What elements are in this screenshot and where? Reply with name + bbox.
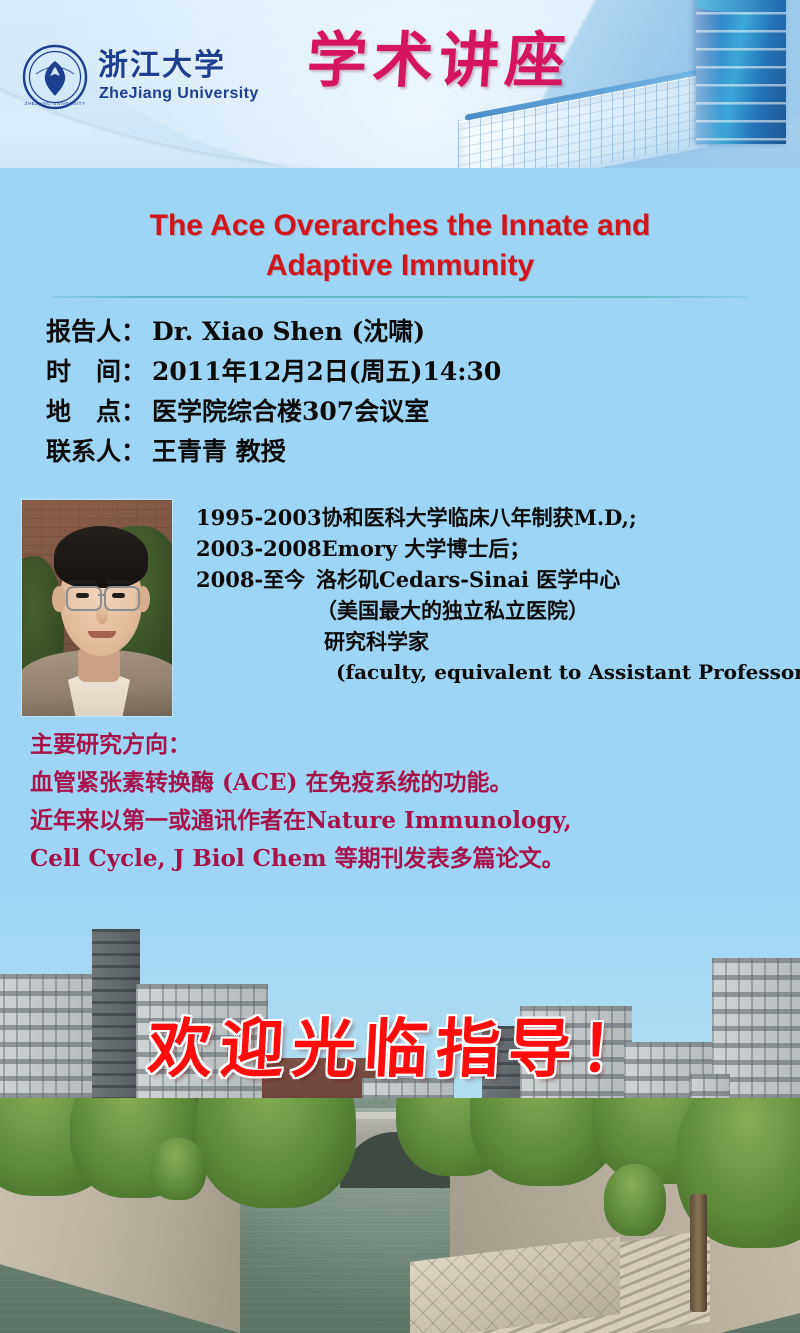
speaker-portrait-photo xyxy=(22,500,172,716)
portrait-nose xyxy=(96,604,108,624)
detail-value: 2011年12月2日(周五)14:30 xyxy=(152,352,501,392)
glass-tower-cap xyxy=(696,0,786,12)
cv-row: 1995-2003 协和医科大学临床八年制获M.D,; xyxy=(196,502,796,533)
shrub xyxy=(604,1164,666,1236)
cv-row: 2008-至今 洛杉矶Cedars-Sinai 医学中心 xyxy=(196,564,796,595)
portrait-eye-right xyxy=(112,593,125,598)
seminar-poster: ZHEJIANG UNIVERSITY 浙江大学 ZheJiang Univer… xyxy=(0,0,800,1333)
portrait-eye-left xyxy=(76,593,89,598)
talk-title-line-2: Adaptive Immunity xyxy=(60,246,740,286)
glass-tower-illustration xyxy=(696,0,786,144)
campus-river-scene xyxy=(0,1098,800,1333)
cv-continuation-faculty: (faculty, equivalent to Assistant Profes… xyxy=(196,657,796,688)
cv-row: 2003-2008 Emory 大学博士后； xyxy=(196,533,796,564)
detail-label: 联系人： xyxy=(46,432,146,472)
research-line-3: 近年来以第一或通讯作者在Nature Immunology, xyxy=(30,802,730,840)
university-logo: ZHEJIANG UNIVERSITY 浙江大学 ZheJiang Univer… xyxy=(22,44,259,110)
title-divider xyxy=(52,296,748,298)
speaker-cv: 1995-2003 协和医科大学临床八年制获M.D,; 2003-2008 Em… xyxy=(196,502,796,688)
portrait-eyebrow-left xyxy=(68,580,96,584)
cv-text: Emory 大学博士后； xyxy=(322,533,796,564)
university-name-en: ZheJiang University xyxy=(99,85,259,103)
detail-label: 报告人： xyxy=(46,312,146,352)
research-heading: 主要研究方向： xyxy=(30,726,730,764)
portrait-mouth xyxy=(88,631,116,638)
welcome-message: 欢迎光临指导！ xyxy=(0,1018,800,1082)
portrait-eyebrow-right xyxy=(106,580,134,584)
cv-year: 2008-至今 xyxy=(196,564,316,595)
shrub xyxy=(150,1138,206,1200)
banner-title-academic-lecture: 学术讲座 xyxy=(305,31,573,91)
cv-text: 洛杉矶Cedars-Sinai 医学中心 xyxy=(316,564,796,595)
talk-title: The Ace Overarches the Innate and Adapti… xyxy=(60,206,740,286)
svg-text:ZHEJIANG UNIVERSITY: ZHEJIANG UNIVERSITY xyxy=(24,101,85,106)
research-interests: 主要研究方向： 血管紧张素转换酶 (ACE) 在免疫系统的功能。 近年来以第一或… xyxy=(30,726,730,878)
zhejiang-university-seal-icon: ZHEJIANG UNIVERSITY xyxy=(22,44,88,110)
cv-year: 2003-2008 xyxy=(196,533,322,564)
detail-label: 地 点： xyxy=(46,392,146,432)
campus-photo xyxy=(0,884,800,1333)
research-line-4: Cell Cycle, J Biol Chem 等期刊发表多篇论文。 xyxy=(30,840,730,878)
cv-continuation-hospital: （美国最大的独立私立医院） xyxy=(196,595,796,626)
portrait-eyeglass-bridge xyxy=(98,594,106,596)
portrait-hair xyxy=(54,526,148,588)
header-banner: ZHEJIANG UNIVERSITY 浙江大学 ZheJiang Univer… xyxy=(0,0,800,168)
portrait-ear-left xyxy=(52,586,66,612)
event-details: 报告人： Dr. Xiao Shen (沈啸) 时 间： 2011年12月2日(… xyxy=(46,312,646,472)
detail-value: Dr. Xiao Shen (沈啸) xyxy=(152,312,425,352)
university-name-cn: 浙江大学 xyxy=(98,51,259,81)
detail-row-speaker: 报告人： Dr. Xiao Shen (沈啸) xyxy=(46,312,646,352)
cv-text: 协和医科大学临床八年制获M.D,; xyxy=(322,502,796,533)
cv-year: 1995-2003 xyxy=(196,502,322,533)
detail-row-time: 时 间： 2011年12月2日(周五)14:30 xyxy=(46,352,646,392)
portrait-eyeglass-lens-right xyxy=(104,586,140,611)
tree-trunk xyxy=(690,1194,707,1312)
research-line-2: 血管紧张素转换酶 (ACE) 在免疫系统的功能。 xyxy=(30,764,730,802)
detail-value: 医学院综合楼307会议室 xyxy=(152,392,429,432)
cv-continuation-role: 研究科学家 xyxy=(196,626,796,657)
detail-row-contact: 联系人： 王青青 教授 xyxy=(46,432,646,472)
talk-title-line-1: The Ace Overarches the Innate and xyxy=(60,206,740,246)
detail-label: 时 间： xyxy=(46,352,146,392)
detail-row-location: 地 点： 医学院综合楼307会议室 xyxy=(46,392,646,432)
detail-value: 王青青 教授 xyxy=(152,432,286,472)
